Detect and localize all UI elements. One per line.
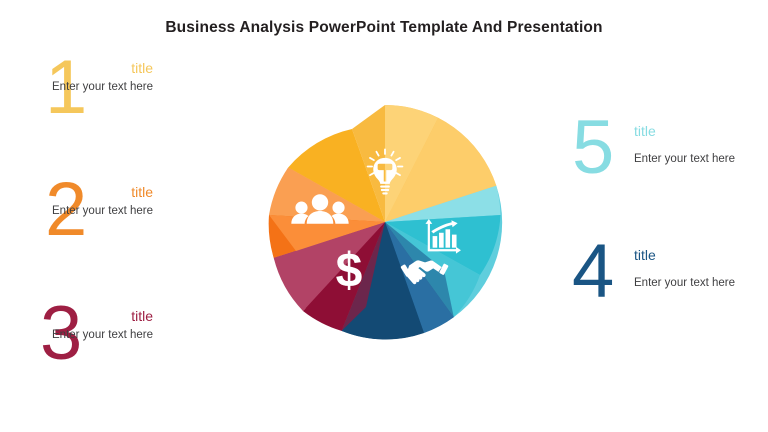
callout-2-subtitle: Enter your text here <box>52 206 153 218</box>
callout-1-title: title <box>131 61 153 75</box>
callout-1-subtitle: Enter your text here <box>52 82 153 94</box>
callout-5[interactable]: 5 title Enter your text here <box>572 110 752 200</box>
callout-5-number: 5 <box>572 110 614 186</box>
dollar-icon <box>336 245 363 298</box>
callout-4-number: 4 <box>572 234 614 310</box>
callout-4-subtitle: Enter your text here <box>634 278 735 290</box>
callout-2[interactable]: 2 title Enter your text here <box>45 172 215 262</box>
slide-canvas: Business Analysis PowerPoint Template An… <box>0 0 768 432</box>
callout-4[interactable]: 4 title Enter your text here <box>572 234 752 324</box>
callout-4-title: title <box>634 248 656 262</box>
pie-infographic: $ <box>248 55 522 389</box>
callout-2-title: title <box>131 185 153 199</box>
page-title: Business Analysis PowerPoint Template An… <box>0 19 768 37</box>
callout-5-subtitle: Enter your text here <box>634 154 735 166</box>
callout-5-title: title <box>634 124 656 138</box>
callout-3[interactable]: 3 title Enter your text here <box>40 296 215 386</box>
callout-1[interactable]: 1 title Enter your text here <box>45 50 215 140</box>
callout-3-title: title <box>131 309 153 323</box>
callout-3-subtitle: Enter your text here <box>52 330 153 342</box>
pie-svg: $ <box>248 55 522 389</box>
